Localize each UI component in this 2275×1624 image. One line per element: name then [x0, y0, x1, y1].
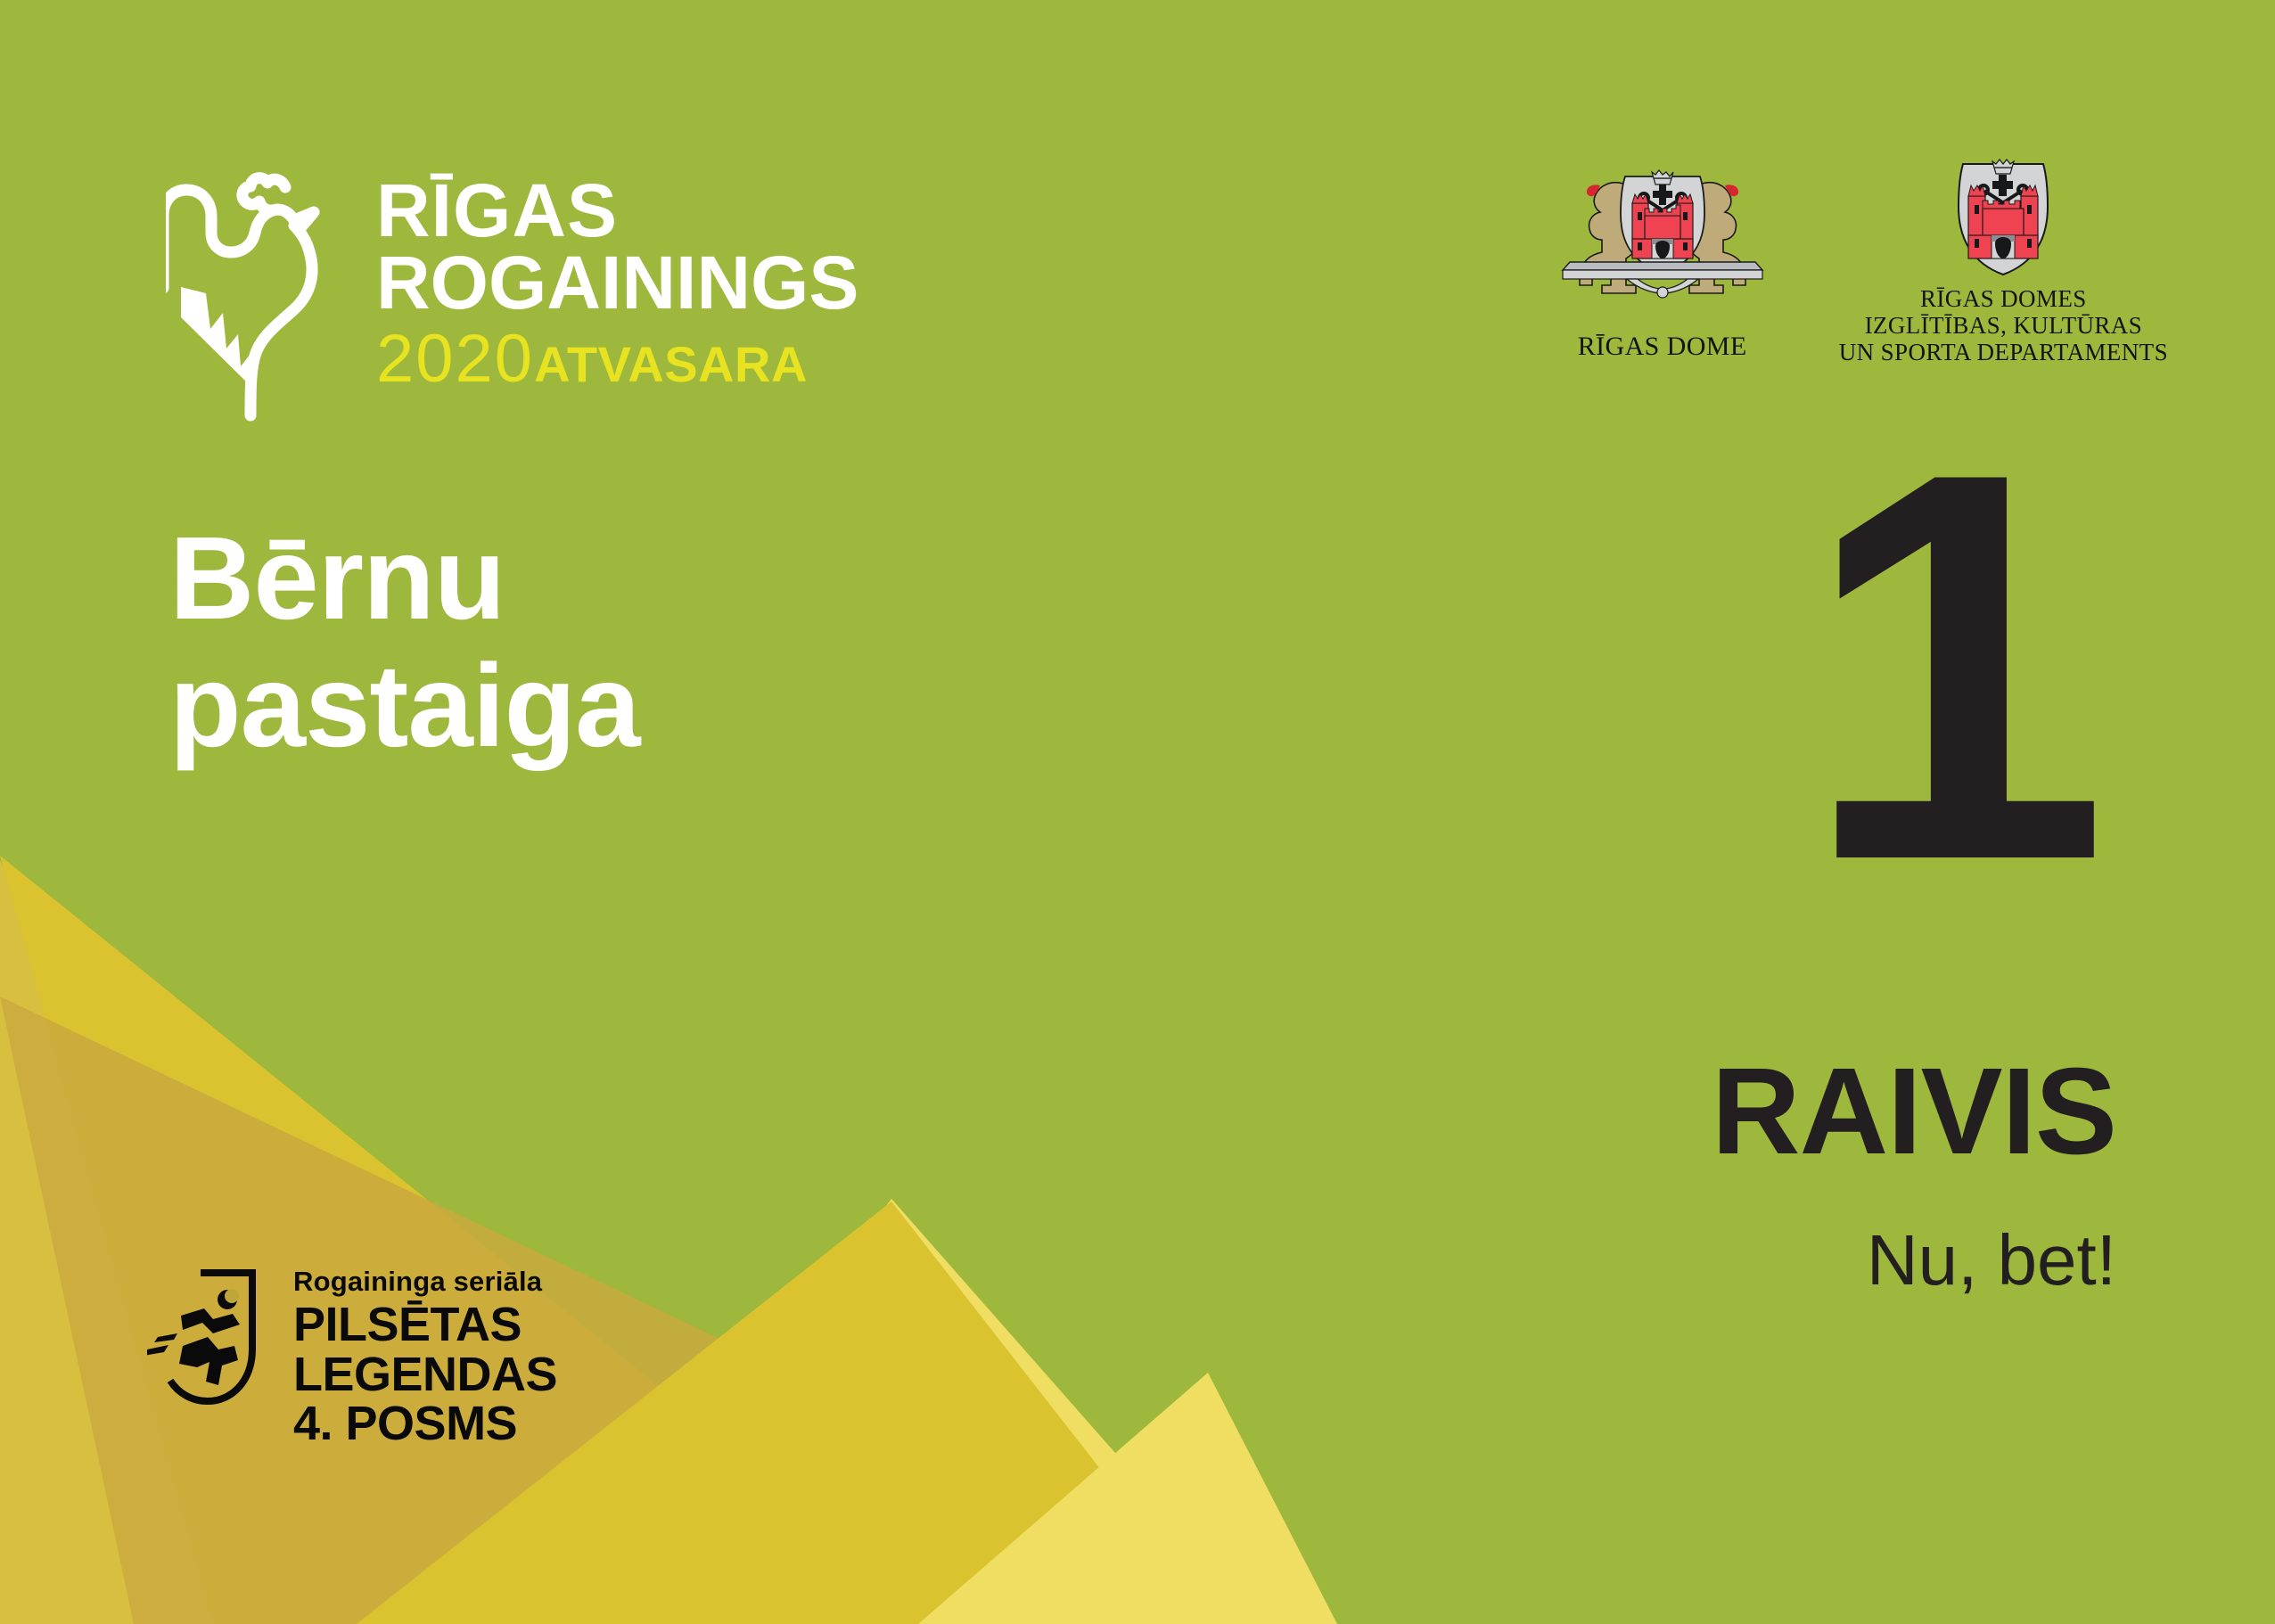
category-title: Bērnu pastaiga	[169, 515, 640, 769]
series-line-1: PILSĒTAS	[293, 1300, 557, 1350]
riga-shield-icon	[1947, 157, 2059, 278]
sponsor-caption: RĪGAS DOMES IZGLĪTĪBAS, KULTŪRAS UN SPOR…	[1839, 285, 2168, 366]
deco-shape-light-yellow	[571, 1199, 1266, 1624]
crown	[1652, 170, 1673, 185]
rooster-icon	[166, 159, 344, 426]
category-line-2: pastaiga	[169, 643, 640, 770]
participant-name: RAIVIS	[1712, 1050, 2116, 1173]
sponsor-izglitibas-departaments: RĪGAS DOMES IZGLĪTĪBAS, KULTŪRAS UN SPOR…	[1839, 157, 2168, 366]
sponsor-caption: RĪGAS DOME	[1578, 332, 1747, 362]
rooster-tail	[181, 287, 250, 386]
speed-line-1	[154, 1333, 177, 1342]
speed-line-2	[147, 1345, 168, 1356]
deco-shape-gold-wide	[0, 856, 954, 1624]
riga-coat-of-arms-with-lions-icon	[1538, 157, 1787, 317]
bib-number: 1	[1628, 446, 2109, 888]
sponsor-rigas-dome: RĪGAS DOME	[1538, 157, 1787, 362]
event-logo: RĪGAS ROGAININGS 2020 ATVASARA	[166, 159, 858, 426]
event-year-row: 2020 ATVASARA	[376, 325, 858, 393]
team-name: Nu, bet!	[1867, 1225, 2116, 1296]
sponsor-logos: RĪGAS DOME	[1538, 157, 2168, 366]
event-year: 2020	[376, 325, 534, 393]
sponsor-caption-line: IZGLĪTĪBAS, KULTŪRAS	[1839, 312, 2168, 339]
series-line-3: 4. POSMS	[293, 1399, 557, 1449]
race-bib: RĪGAS ROGAININGS 2020 ATVASARA Bērnu pas…	[0, 0, 2275, 1624]
series-logo: Rogaininga seriāla PILSĒTAS LEGENDAS 4. …	[147, 1264, 557, 1449]
figure-arm-upper	[181, 1308, 240, 1333]
series-kicker: Rogaininga seriāla	[293, 1267, 557, 1295]
series-text: Rogaininga seriāla PILSĒTAS LEGENDAS 4. …	[293, 1264, 557, 1449]
crown	[1992, 160, 2014, 174]
sponsor-caption-line: RĪGAS DOME	[1578, 332, 1747, 362]
deco-shape-gold-large	[0, 860, 374, 1624]
series-line-2: LEGENDAS	[293, 1350, 557, 1400]
running-figure-mask-icon	[147, 1264, 274, 1414]
deco-shape-pale-wedge	[918, 1373, 1337, 1624]
figure-body	[179, 1337, 238, 1385]
sponsor-caption-line: RĪGAS DOMES	[1839, 285, 2168, 312]
event-title-line-1: RĪGAS	[376, 175, 858, 247]
event-title-line-2: ROGAININGS	[376, 247, 858, 319]
category-line-1: Bērnu	[169, 515, 640, 643]
event-season: ATVASARA	[534, 340, 808, 390]
event-wordmark: RĪGAS ROGAININGS 2020 ATVASARA	[376, 159, 858, 393]
